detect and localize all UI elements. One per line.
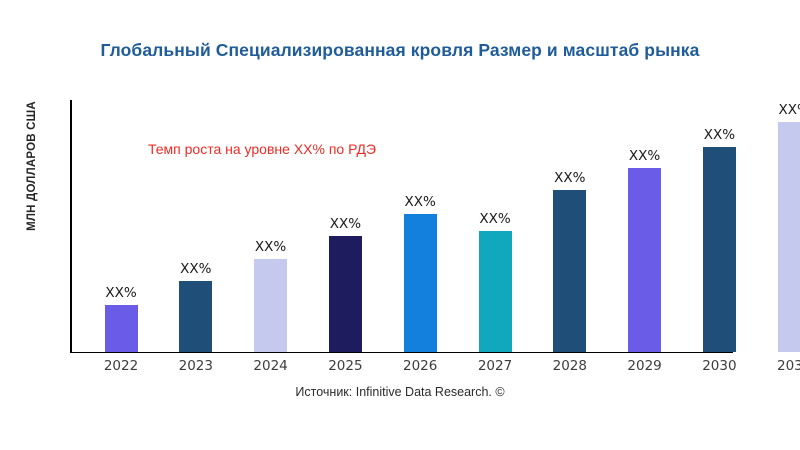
bar-value-label-2028: XX%	[554, 170, 585, 186]
bar-group: XX%	[778, 100, 800, 352]
chart-container: Глобальный Специализированная кровля Раз…	[0, 0, 800, 450]
bar-value-label-2027: XX%	[479, 211, 510, 227]
bar-2025[interactable]	[329, 236, 362, 352]
bar-2024[interactable]	[254, 259, 287, 352]
x-tick-2031: 2031	[764, 358, 800, 374]
bar-value-label-2026: XX%	[405, 194, 436, 210]
bar-value-label-2029: XX%	[629, 148, 660, 164]
x-tick-2024: 2024	[241, 358, 301, 374]
bar-2023[interactable]	[179, 281, 212, 352]
bar-group: XX%	[105, 100, 138, 352]
bar-value-label-2023: XX%	[180, 261, 211, 277]
bar-2022[interactable]	[105, 305, 138, 352]
x-tick-2022: 2022	[91, 358, 151, 374]
bar-2028[interactable]	[553, 190, 586, 352]
bar-value-label-2030: XX%	[704, 127, 735, 143]
bar-group: XX%	[179, 100, 212, 352]
bar-group: XX%	[628, 100, 661, 352]
bar-group: XX%	[479, 100, 512, 352]
bar-group: XX%	[703, 100, 736, 352]
x-tick-2025: 2025	[315, 358, 375, 374]
bar-2027[interactable]	[479, 231, 512, 352]
bar-2030[interactable]	[703, 147, 736, 352]
source-footer: Источник: Infinitive Data Research. ©	[0, 385, 800, 399]
bar-value-label-2025: XX%	[330, 216, 361, 232]
bar-value-label-2031: XX%	[779, 102, 800, 118]
bar-value-label-2022: XX%	[105, 285, 136, 301]
growth-rate-annotation: Темп роста на уровне XX% по РДЭ	[148, 141, 376, 157]
plot-area: XX%XX%XX%XX%XX%XX%XX%XX%XX%XX%	[71, 100, 733, 352]
chart-title: Глобальный Специализированная кровля Раз…	[0, 40, 800, 61]
y-axis-title: МЛН ДОЛЛАРОВ США	[26, 66, 38, 266]
x-tick-2023: 2023	[166, 358, 226, 374]
bar-group: XX%	[404, 100, 437, 352]
bar-2026[interactable]	[404, 214, 437, 352]
x-tick-2030: 2030	[689, 358, 749, 374]
bar-2031[interactable]	[778, 122, 800, 352]
bar-group: XX%	[254, 100, 287, 352]
x-tick-2029: 2029	[615, 358, 675, 374]
x-tick-2028: 2028	[540, 358, 600, 374]
x-tick-2027: 2027	[465, 358, 525, 374]
x-tick-2026: 2026	[390, 358, 450, 374]
bar-2029[interactable]	[628, 168, 661, 352]
bar-group: XX%	[329, 100, 362, 352]
bar-value-label-2024: XX%	[255, 239, 286, 255]
bar-group: XX%	[553, 100, 586, 352]
